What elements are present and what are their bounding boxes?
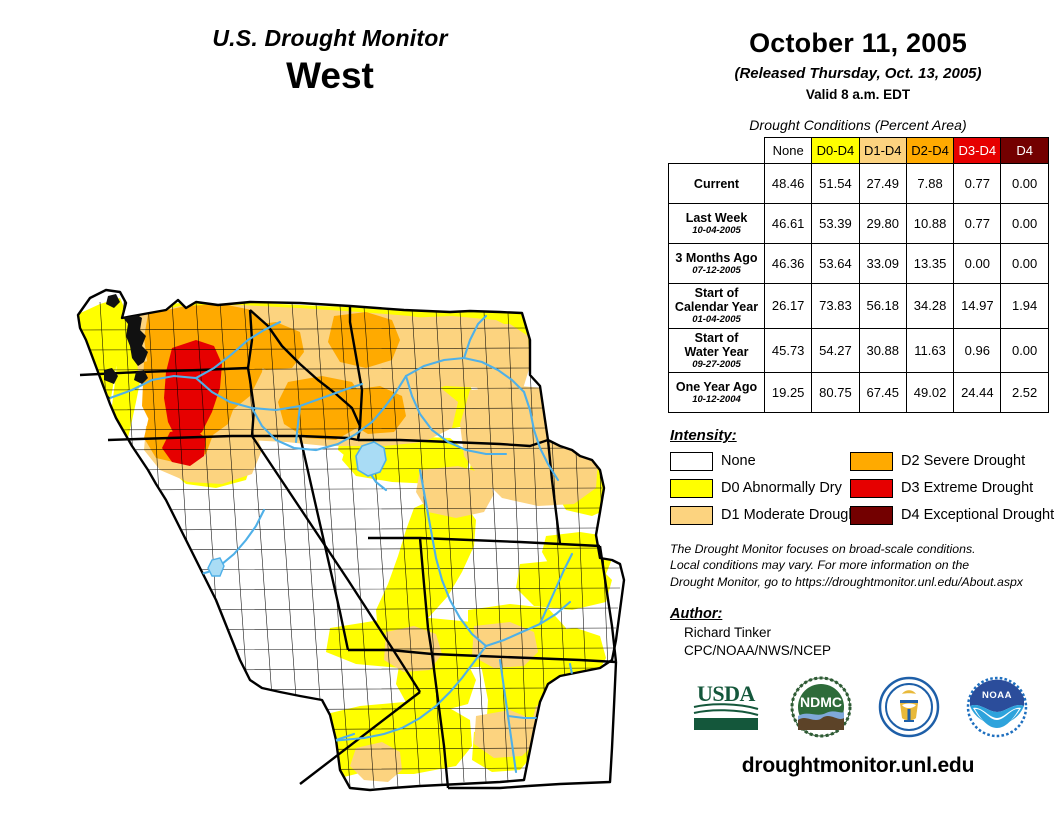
release-date: (Released Thursday, Oct. 13, 2005) xyxy=(660,65,1056,82)
table-caption: Drought Conditions (Percent Area) xyxy=(660,117,1056,133)
table-row: Start ofWater Year09-27-200545.7354.2730… xyxy=(669,328,1049,373)
table-row-date: 01-04-2005 xyxy=(672,315,761,326)
table-cell-value: 53.39 xyxy=(812,204,859,244)
sf-bay xyxy=(110,556,140,582)
table-cell-value: 0.00 xyxy=(1001,328,1048,373)
svg-text:USDA: USDA xyxy=(697,681,756,706)
legend-swatch xyxy=(850,479,893,498)
table-cell-value: 51.54 xyxy=(812,164,859,204)
table-row-date: 09-27-2005 xyxy=(672,360,761,371)
table-cell-value: 10.88 xyxy=(906,204,953,244)
issue-date: October 11, 2005 xyxy=(660,28,1056,59)
table-cell-value: 29.80 xyxy=(859,204,906,244)
table-cell-value: 46.61 xyxy=(765,204,812,244)
channel-islands xyxy=(141,709,198,742)
table-cell-value: 11.63 xyxy=(906,328,953,373)
table-row-label: Current xyxy=(669,164,765,204)
table-cell-value: 80.75 xyxy=(812,373,859,413)
legend-grid: NoneD2 Severe DroughtD0 Abnormally DryD3… xyxy=(670,449,1056,527)
table-cell-value: 0.00 xyxy=(954,244,1001,284)
table-cell-value: 27.49 xyxy=(859,164,906,204)
map-title-block: U.S. Drought Monitor West xyxy=(0,26,660,97)
table-cell-value: 1.94 xyxy=(1001,284,1048,329)
salton-sea xyxy=(244,740,260,760)
table-row-label: Start ofWater Year09-27-2005 xyxy=(669,328,765,373)
table-cell-value: 26.17 xyxy=(765,284,812,329)
table-row-label: 3 Months Ago07-12-2005 xyxy=(669,244,765,284)
table-corner-cell xyxy=(669,138,765,164)
table-col-header-none: None xyxy=(765,138,812,164)
table-cell-value: 30.88 xyxy=(859,328,906,373)
map-panel: U.S. Drought Monitor West xyxy=(0,0,660,816)
table-cell-value: 73.83 xyxy=(812,284,859,329)
table-cell-value: 0.00 xyxy=(1001,244,1048,284)
table-row-date: 10-12-2004 xyxy=(672,395,761,406)
table-cell-value: 2.52 xyxy=(1001,373,1048,413)
table-col-header-d1-d4: D1-D4 xyxy=(859,138,906,164)
table-cell-value: 45.73 xyxy=(765,328,812,373)
author-block: Author: Richard Tinker CPC/NOAA/NWS/NCEP xyxy=(660,606,1056,658)
table-col-header-d2-d4: D2-D4 xyxy=(906,138,953,164)
table-cell-value: 56.18 xyxy=(859,284,906,329)
intensity-heading: Intensity: xyxy=(670,427,1056,444)
logo-row: USDA NDMC xyxy=(660,674,1056,746)
svg-text:NOAA: NOAA xyxy=(982,690,1012,701)
drought-map-figure[interactable] xyxy=(0,140,660,800)
svg-text:NDMC: NDMC xyxy=(800,694,842,710)
table-col-header-d4: D4 xyxy=(1001,138,1048,164)
commerce-seal[interactable] xyxy=(878,676,940,743)
drought-table-wrap: NoneD0-D4D1-D4D2-D4D3-D4D4 Current48.465… xyxy=(660,133,1056,413)
table-header-row: NoneD0-D4D1-D4D2-D4D3-D4D4 xyxy=(669,138,1049,164)
table-cell-value: 7.88 xyxy=(906,164,953,204)
table-cell-value: 0.77 xyxy=(954,204,1001,244)
table-row-date: 10-04-2005 xyxy=(672,226,761,237)
legend-swatch xyxy=(670,452,713,471)
map-title-region: West xyxy=(0,56,660,97)
table-row: One Year Ago10-12-200419.2580.7567.4549.… xyxy=(669,373,1049,413)
legend-label: D1 Moderate Drought xyxy=(721,507,860,523)
map-title-main: U.S. Drought Monitor xyxy=(0,26,660,50)
table-cell-value: 46.36 xyxy=(765,244,812,284)
table-cell-value: 48.46 xyxy=(765,164,812,204)
legend-item: D4 Exceptional Drought xyxy=(850,503,1050,527)
table-cell-value: 24.44 xyxy=(954,373,1001,413)
table-cell-value: 67.45 xyxy=(859,373,906,413)
legend-item: D0 Abnormally Dry xyxy=(670,476,850,500)
legend-label: D2 Severe Drought xyxy=(901,453,1025,469)
usda-logo[interactable]: USDA xyxy=(688,679,764,740)
author-name: Richard Tinker xyxy=(670,625,1056,640)
legend-swatch xyxy=(850,452,893,471)
table-row: Last Week10-04-200546.6153.3929.8010.880… xyxy=(669,204,1049,244)
table-row: Start ofCalendar Year01-04-200526.1773.8… xyxy=(669,284,1049,329)
table-cell-value: 53.64 xyxy=(812,244,859,284)
legend-label: D3 Extreme Drought xyxy=(901,480,1033,496)
table-cell-value: 54.27 xyxy=(812,328,859,373)
legend-item: D1 Moderate Drought xyxy=(670,503,850,527)
right-panel: October 11, 2005 (Released Thursday, Oct… xyxy=(660,0,1056,816)
table-row-label: One Year Ago10-12-2004 xyxy=(669,373,765,413)
table-cell-value: 33.09 xyxy=(859,244,906,284)
noaa-logo[interactable]: NOAA xyxy=(966,676,1028,743)
author-heading: Author: xyxy=(670,606,1056,622)
table-cell-value: 0.77 xyxy=(954,164,1001,204)
table-cell-value: 0.96 xyxy=(954,328,1001,373)
date-block: October 11, 2005 (Released Thursday, Oct… xyxy=(660,0,1056,102)
author-affiliation: CPC/NOAA/NWS/NCEP xyxy=(670,643,1056,658)
table-row: 3 Months Ago07-12-200546.3653.6433.0913.… xyxy=(669,244,1049,284)
legend-swatch xyxy=(850,506,893,525)
table-cell-value: 14.97 xyxy=(954,284,1001,329)
table-body: Current48.4651.5427.497.880.770.00Last W… xyxy=(669,164,1049,413)
site-url[interactable]: droughtmonitor.unl.edu xyxy=(660,754,1056,778)
legend-swatch xyxy=(670,479,713,498)
table-row-label: Start ofCalendar Year01-04-2005 xyxy=(669,284,765,329)
valid-time: Valid 8 a.m. EDT xyxy=(660,87,1056,102)
table-cell-value: 0.00 xyxy=(1001,164,1048,204)
legend-label: D0 Abnormally Dry xyxy=(721,480,842,496)
disclaimer-text: The Drought Monitor focuses on broad-sca… xyxy=(660,541,1056,590)
legend-item: D3 Extreme Drought xyxy=(850,476,1050,500)
table-cell-value: 0.00 xyxy=(1001,204,1048,244)
intensity-legend: Intensity: NoneD2 Severe DroughtD0 Abnor… xyxy=(660,427,1056,527)
legend-item: None xyxy=(670,449,850,473)
ndmc-logo[interactable]: NDMC xyxy=(790,676,852,743)
table-col-header-d3-d4: D3-D4 xyxy=(954,138,1001,164)
table-row: Current48.4651.5427.497.880.770.00 xyxy=(669,164,1049,204)
table-cell-value: 13.35 xyxy=(906,244,953,284)
table-cell-value: 34.28 xyxy=(906,284,953,329)
disclaimer-line-2: Local conditions may vary. For more info… xyxy=(670,557,1056,573)
table-row-label: Last Week10-04-2005 xyxy=(669,204,765,244)
table-row-date: 07-12-2005 xyxy=(672,266,761,277)
legend-item: D2 Severe Drought xyxy=(850,449,1050,473)
table-cell-value: 19.25 xyxy=(765,373,812,413)
drought-statistics-table: NoneD0-D4D1-D4D2-D4D3-D4D4 Current48.465… xyxy=(668,137,1049,413)
disclaimer-line-3: Drought Monitor, go to https://droughtmo… xyxy=(670,574,1056,590)
legend-label: None xyxy=(721,453,756,469)
table-cell-value: 49.02 xyxy=(906,373,953,413)
legend-label: D4 Exceptional Drought xyxy=(901,507,1054,523)
table-col-header-d0-d4: D0-D4 xyxy=(812,138,859,164)
legend-swatch xyxy=(670,506,713,525)
disclaimer-line-1: The Drought Monitor focuses on broad-sca… xyxy=(670,541,1056,557)
